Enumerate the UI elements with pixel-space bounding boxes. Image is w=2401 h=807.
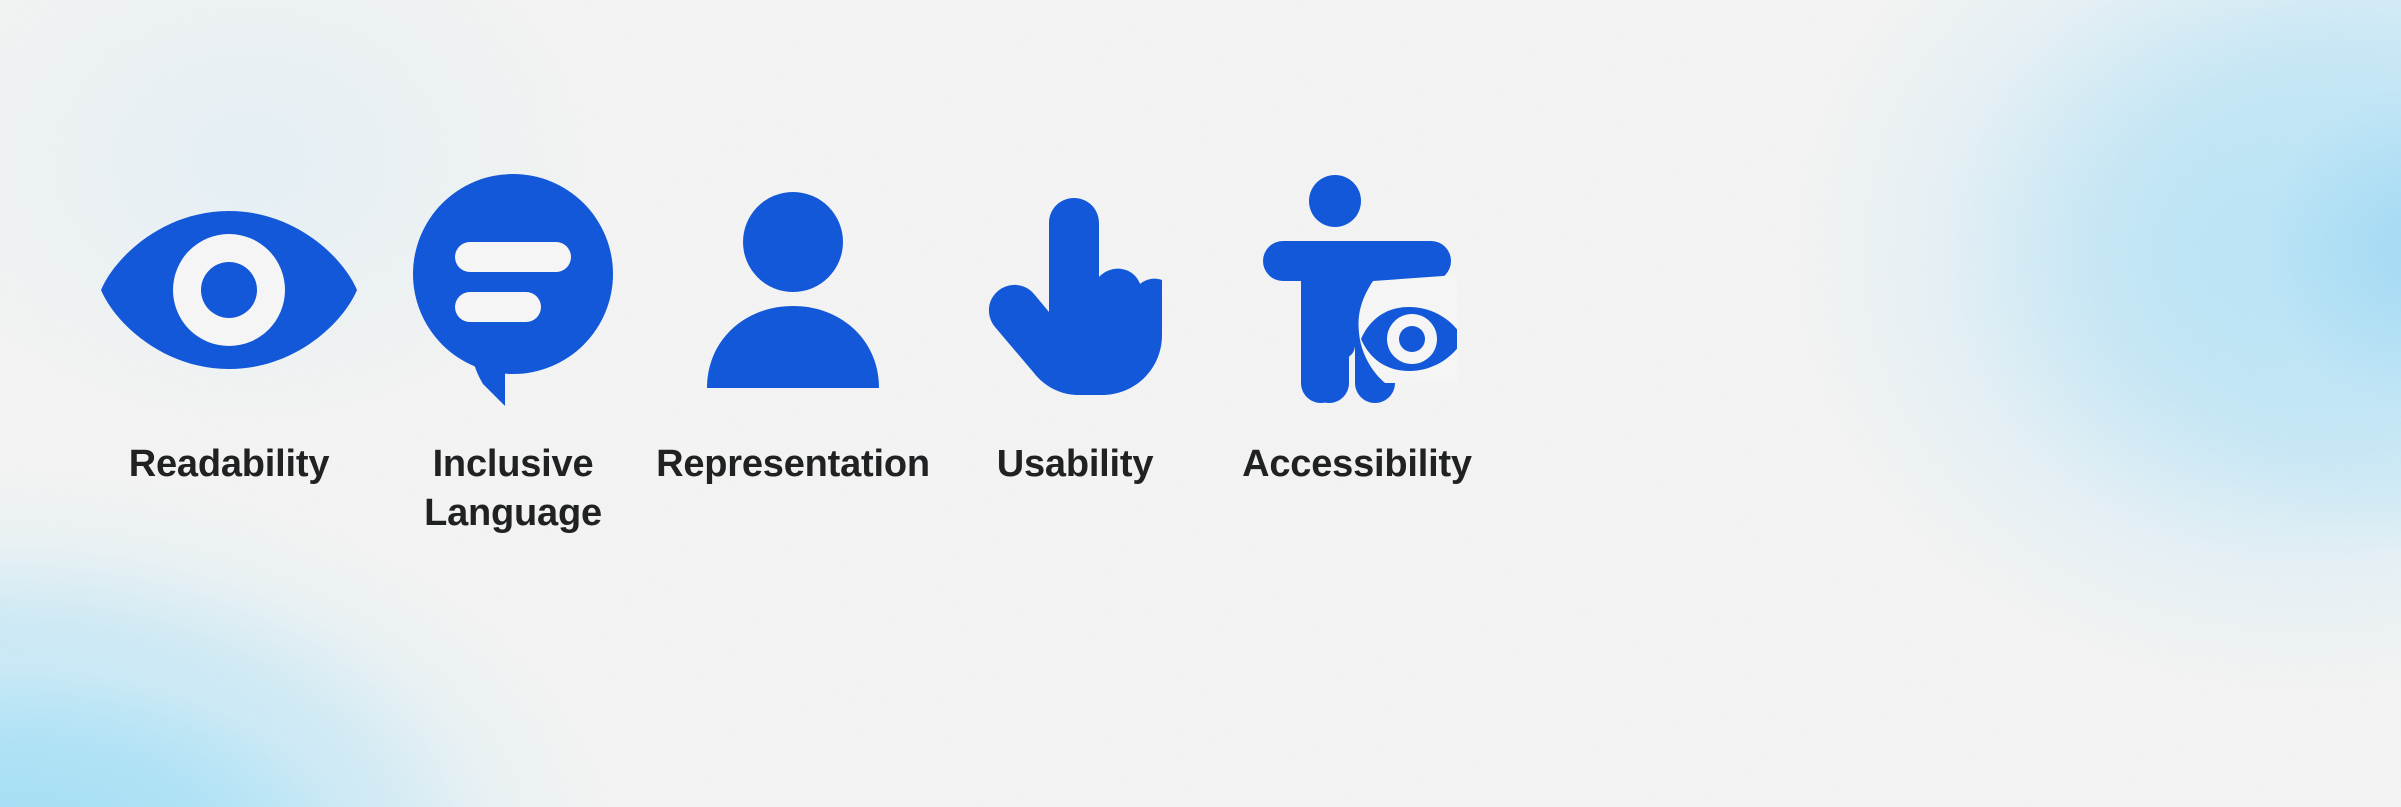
- principle-label-inclusive-language: Inclusive Language: [424, 440, 602, 537]
- principle-item-readability[interactable]: Readability: [64, 140, 394, 489]
- accessibility-figure-with-eye-icon: [1257, 175, 1457, 405]
- principle-label-accessibility: Accessibility: [1242, 440, 1472, 489]
- principle-item-representation[interactable]: Representation: [628, 140, 958, 489]
- principles-row: Readability Inclusive Language: [0, 0, 2401, 807]
- speech-bubble-icon: [413, 174, 613, 406]
- icon-slot-usability: [987, 140, 1163, 440]
- icon-slot-readability: [99, 140, 359, 440]
- inclusive-design-principles-banner: Readability Inclusive Language: [0, 0, 2401, 807]
- principle-item-accessibility[interactable]: Accessibility: [1192, 140, 1522, 489]
- principle-label-representation: Representation: [656, 440, 930, 489]
- principle-item-usability[interactable]: Usability: [910, 140, 1240, 489]
- person-icon: [703, 192, 883, 388]
- principle-label-usability: Usability: [997, 440, 1154, 489]
- principle-label-readability: Readability: [129, 440, 330, 489]
- icon-slot-inclusive-language: [413, 140, 613, 440]
- pointing-hand-icon: [987, 185, 1163, 395]
- icon-slot-accessibility: [1257, 140, 1457, 440]
- icon-slot-representation: [703, 140, 883, 440]
- eye-icon: [99, 205, 359, 375]
